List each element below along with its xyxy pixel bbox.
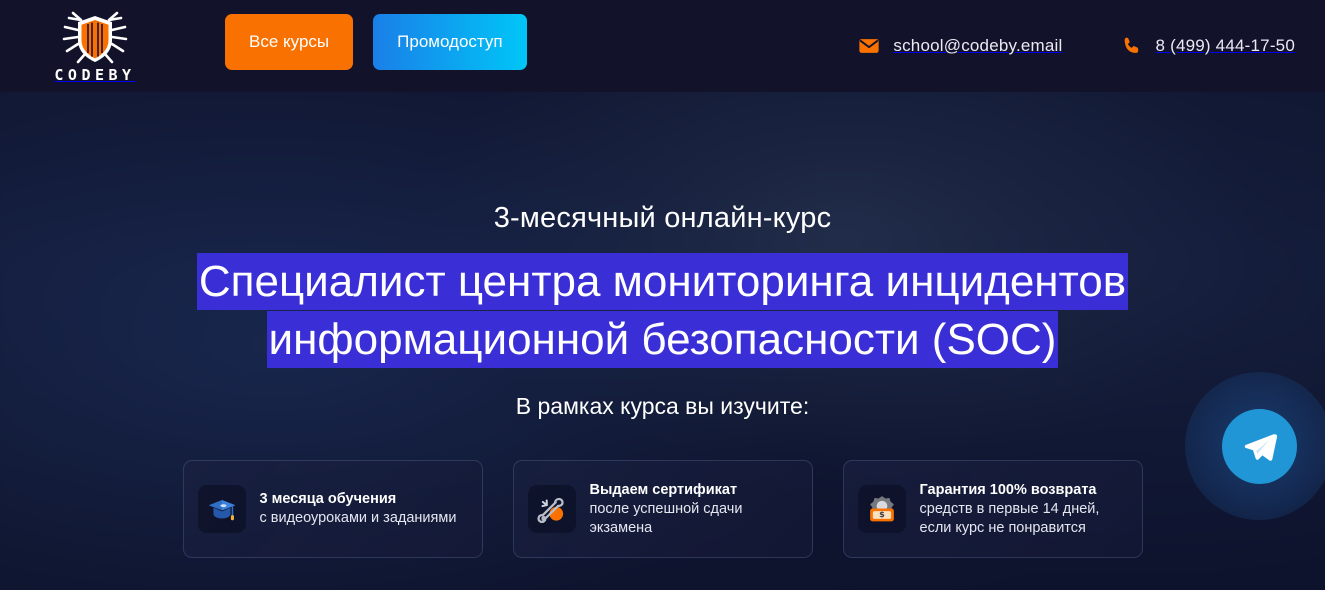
page-title: Специалист центра мониторинга инцидентов… [93, 253, 1233, 369]
card-text: Гарантия 100% возврата средств в первые … [920, 481, 1128, 538]
certificate-scroll-icon [533, 490, 571, 528]
email-text: school@codeby.email [893, 36, 1062, 56]
graduation-cap-icon [203, 490, 241, 528]
card-description: средств в первые 14 дней, если курс не п… [920, 500, 1128, 538]
phone-text: 8 (499) 444-17-50 [1156, 36, 1296, 56]
promo-access-button[interactable]: Промодоступ [373, 14, 526, 70]
page-title-line-1: Специалист центра мониторинга инцидентов [197, 253, 1128, 310]
card-title: 3 месяца обучения [260, 490, 457, 508]
spider-shield-logo-icon [59, 10, 131, 66]
hero-eyebrow: 3-месячный онлайн-курс [0, 202, 1325, 235]
card-icon-wrapper: $ [858, 485, 906, 533]
header-nav-buttons: Все курсы Промодоступ [225, 14, 527, 70]
page-title-line-2: информационной безопасности (SOC) [267, 311, 1059, 368]
phone-contact[interactable]: 8 (499) 444-17-50 [1121, 35, 1296, 57]
feature-card-guarantee: $ Гарантия 100% возврата средств в первы… [843, 460, 1143, 558]
site-logo[interactable]: CODEBY [40, 4, 150, 88]
logo-wordmark: CODEBY [54, 68, 135, 83]
telegram-paper-plane-icon [1242, 429, 1278, 465]
card-icon-wrapper [198, 485, 246, 533]
card-description: после успешной сдачи экзамена [590, 500, 798, 538]
phone-icon [1121, 35, 1143, 57]
feature-card-duration: 3 месяца обучения с видеоуроками и задан… [183, 460, 483, 558]
telegram-button[interactable] [1222, 409, 1297, 484]
email-contact[interactable]: school@codeby.email [858, 35, 1062, 57]
header-contacts: school@codeby.email 8 (499) 444-17-50 [858, 0, 1295, 92]
envelope-icon [858, 35, 880, 57]
card-title: Выдаем сертификат [590, 481, 798, 499]
card-icon-wrapper [528, 485, 576, 533]
hero-section: 3-месячный онлайн-курс Специалист центра… [0, 92, 1325, 590]
all-courses-button[interactable]: Все курсы [225, 14, 353, 70]
feature-card-certificate: Выдаем сертификат после успешной сдачи э… [513, 460, 813, 558]
telegram-fab-wrapper [1185, 364, 1325, 529]
card-text: 3 месяца обучения с видеоуроками и задан… [260, 490, 457, 528]
svg-text:$: $ [879, 509, 885, 519]
site-header: CODEBY Все курсы Промодоступ school@code… [0, 0, 1325, 92]
card-title: Гарантия 100% возврата [920, 481, 1128, 499]
money-back-icon: $ [863, 490, 901, 528]
card-text: Выдаем сертификат после успешной сдачи э… [590, 481, 798, 538]
feature-cards: 3 месяца обучения с видеоуроками и задан… [0, 460, 1325, 558]
hero-subtitle: В рамках курса вы изучите: [0, 393, 1325, 420]
hero-content: 3-месячный онлайн-курс Специалист центра… [0, 202, 1325, 420]
card-description: с видеоуроками и заданиями [260, 509, 457, 528]
